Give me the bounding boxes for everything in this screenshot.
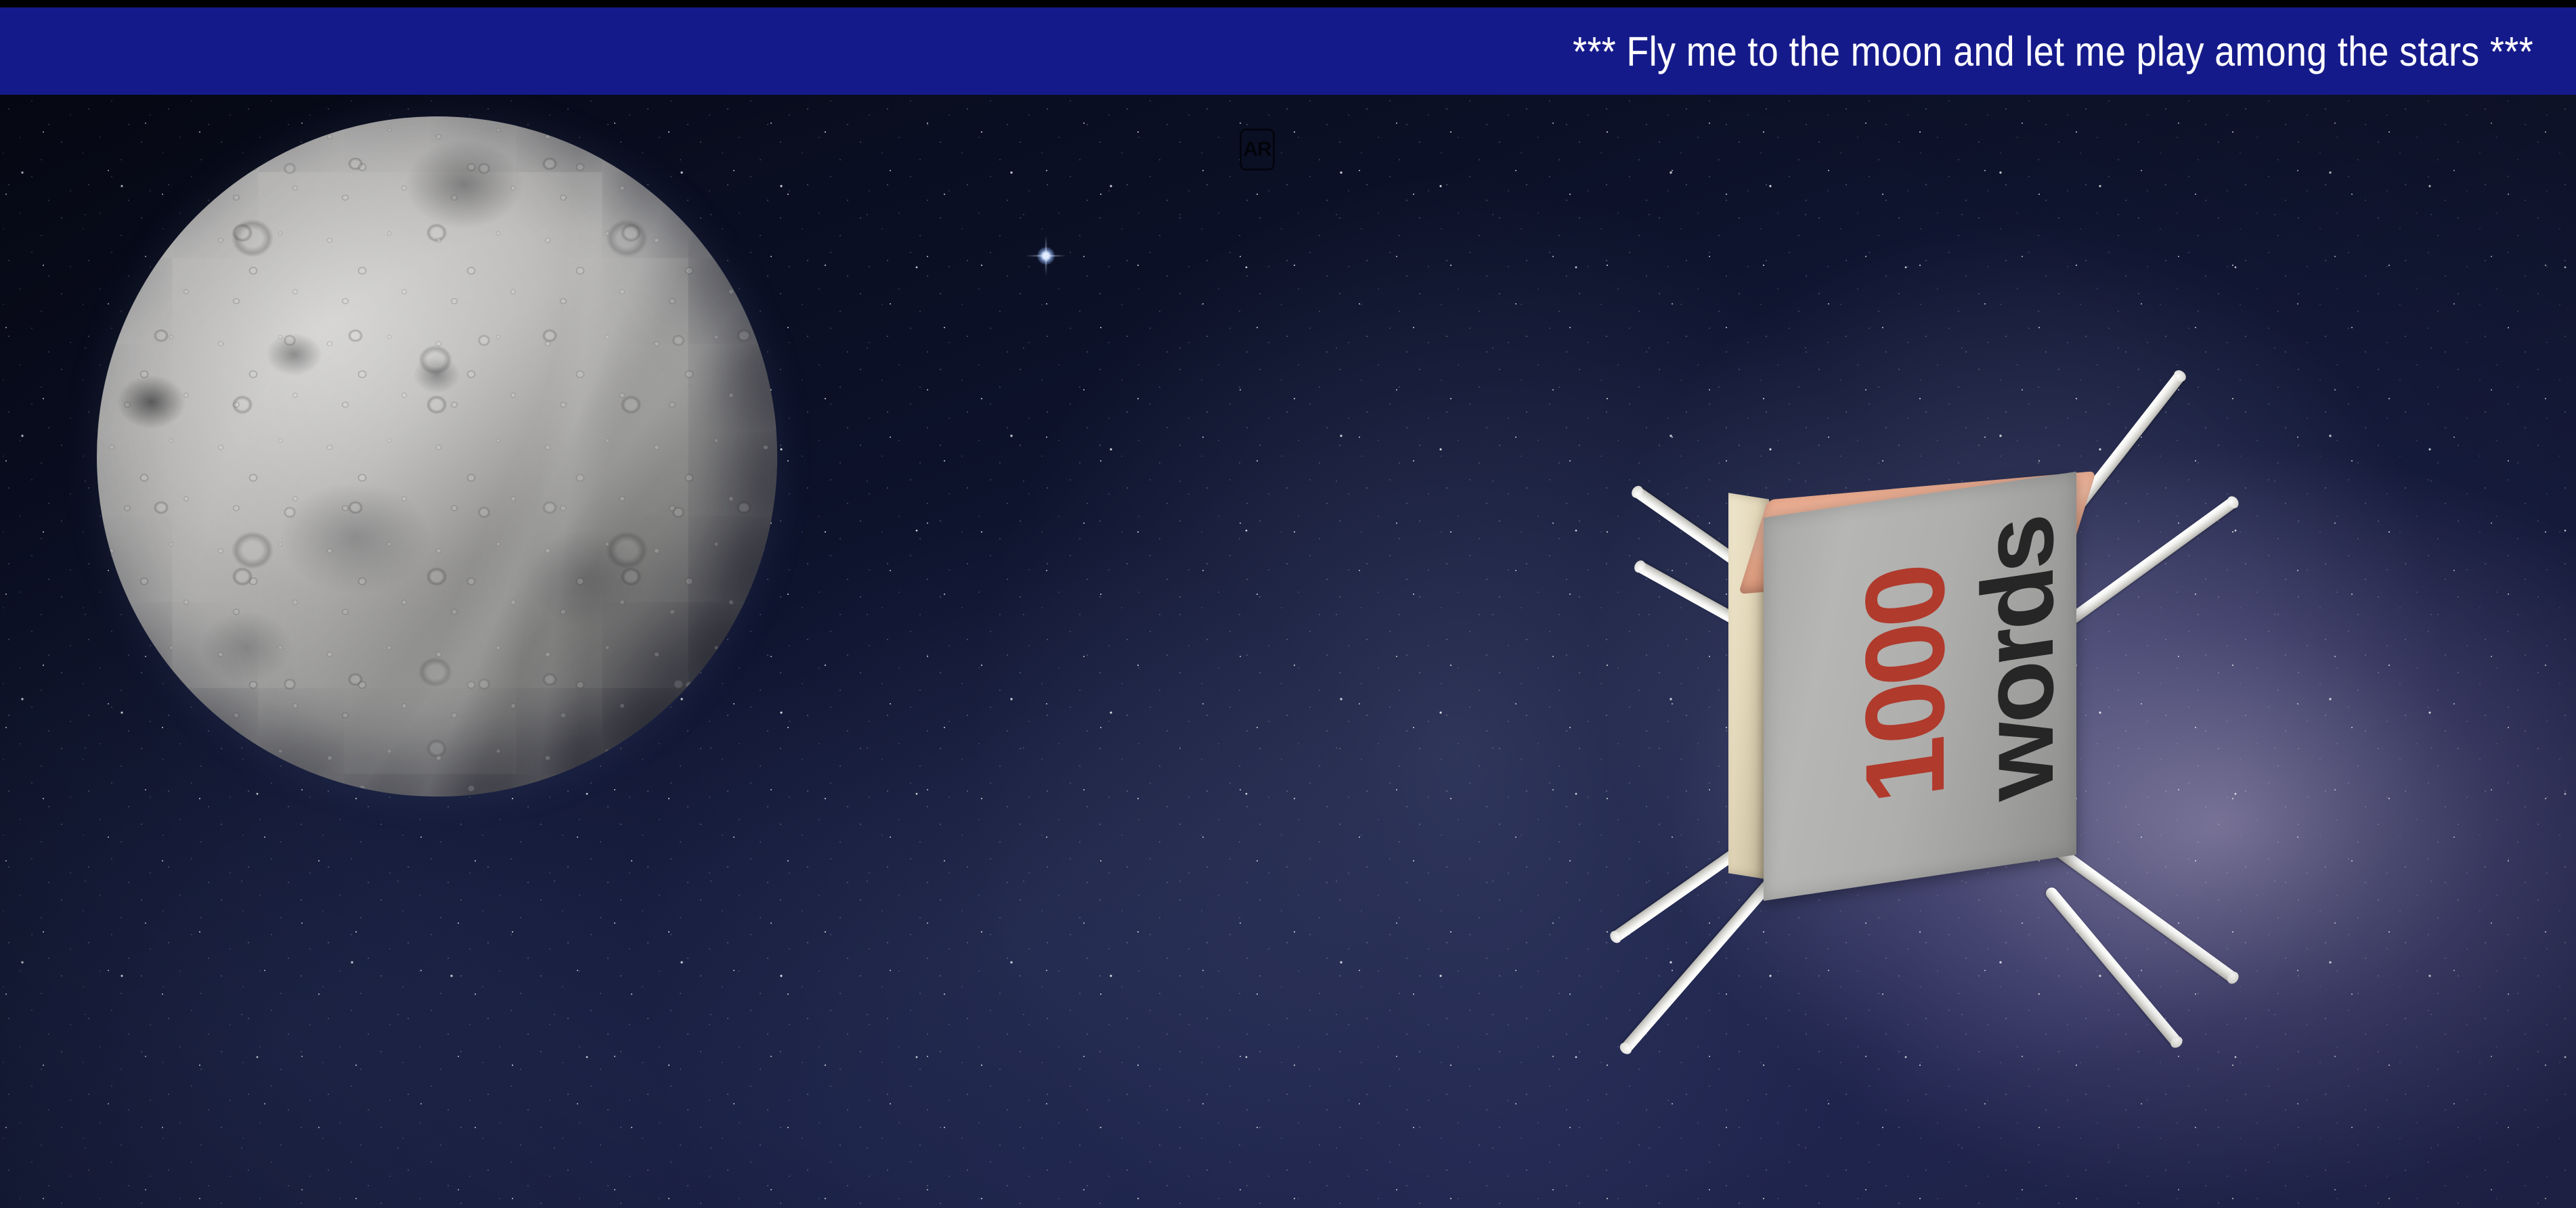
antenna-rod-lower-left-inner — [1619, 878, 1774, 1054]
moon-ray-system — [97, 116, 777, 797]
space-scene: AR — [0, 95, 2576, 1208]
marquee-banner: *** Fly me to the moon and let me play a… — [0, 7, 2576, 95]
antenna-rod-lower-right-inner — [2043, 885, 2183, 1048]
satellite-cube: 1000 words — [1649, 342, 2312, 1127]
cube-front-face: 1000 words — [1764, 472, 2076, 901]
cube-label-1000: 1000 — [1850, 514, 1962, 856]
moon-sphere — [97, 116, 777, 797]
bright-star-icon — [1037, 247, 1055, 265]
moon — [97, 116, 777, 797]
top-black-strip — [0, 0, 2576, 7]
ar-watermark-label: AR — [1243, 139, 1271, 160]
banner-text: *** Fly me to the moon and let me play a… — [1573, 28, 2576, 75]
satellite-body: 1000 words — [1764, 565, 2089, 880]
cube-label-words: words — [1967, 490, 2068, 830]
ar-watermark: AR — [1240, 129, 1275, 171]
page-root: *** Fly me to the moon and let me play a… — [0, 0, 2576, 1208]
